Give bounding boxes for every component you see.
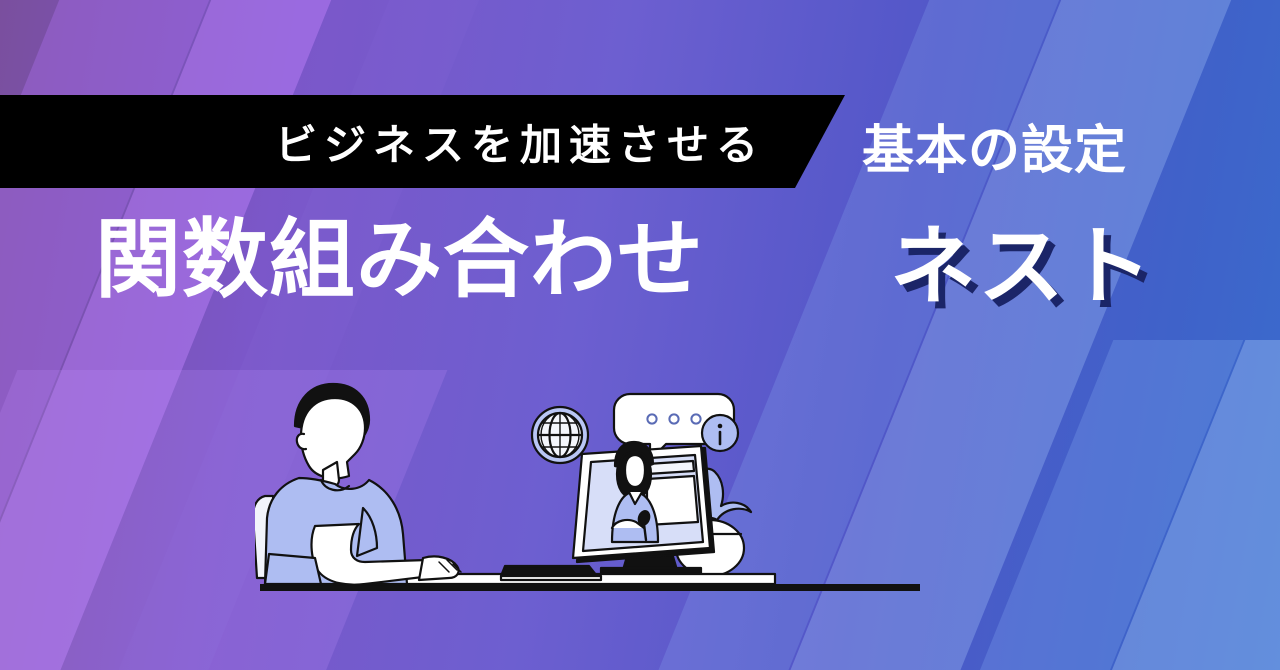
banner-text: ビジネスを加速させる: [275, 111, 765, 172]
illustration: [255, 378, 935, 593]
page-title: 関数組み合わせ: [95, 215, 704, 305]
info-icon: [702, 415, 738, 451]
side-title: ネスト: [890, 196, 1154, 321]
slide-canvas: ビジネスを加速させる 関数組み合わせ 基本の設定 ネスト: [0, 0, 1280, 670]
globe-icon: [532, 407, 588, 463]
wedge-bottom-right-2: [1112, 340, 1280, 670]
side-subtitle: 基本の設定: [862, 108, 1127, 183]
keyboard: [501, 566, 601, 580]
banner-ribbon: ビジネスを加速させる: [0, 95, 845, 188]
person-man: [265, 384, 461, 585]
wedge-bottom-right-1: [980, 340, 1243, 670]
